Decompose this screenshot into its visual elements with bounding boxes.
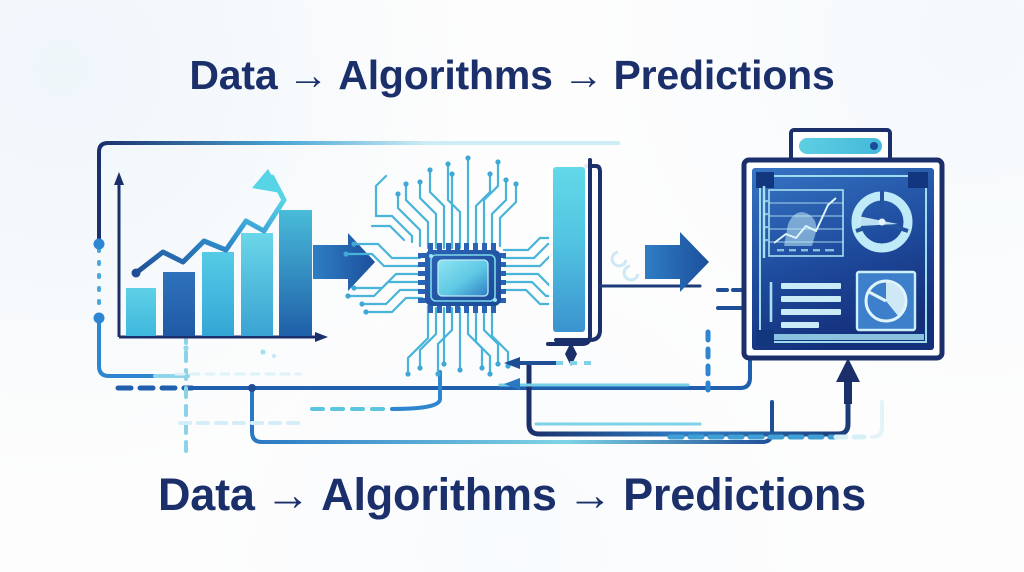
bar-chart-bar-1 [126,288,156,336]
bar-chart-icon [114,169,328,342]
dashboard-report-icon [744,130,942,404]
title-bottom-word-algorithms: Algorithms [321,469,557,520]
bar-chart-x-axis-arrowhead [315,332,328,342]
node-dot-bus-junction [248,384,256,392]
chip-corner-dot-tl [429,254,433,258]
dashboard-header-indicator-dot [870,142,878,150]
bar-chart-bar-2 [163,272,195,336]
text-lines-widget-line-4 [781,322,819,328]
bar-chart-bar-4 [241,233,273,336]
donut-chart-widget-hub [879,219,886,226]
text-lines-widget-line-3 [781,309,841,315]
page-title-top: Data → Algorithms → Predictions [0,50,1024,100]
title-top-word-data: Data [189,52,277,98]
title-bottom-word-predictions: Predictions [623,469,866,520]
diagram-canvas: Data → Algorithms → Predictions Data → A… [0,0,1024,572]
chip-corner-dot-br [493,298,497,302]
dashboard-header-pill [799,138,882,154]
title-top-word-algorithms: Algorithms [338,52,552,98]
arrow-data-to-algorithms [313,233,375,291]
node-dot-chart-base [183,345,188,350]
bar-chart-trend-start-dot [132,269,141,278]
connector-mid-dashed-solid-tail [392,372,440,409]
node-dot-chart-base-3 [272,354,276,358]
dashboard-footer-bar [774,334,924,340]
connector-bottom-curve-fade [872,402,882,437]
dashboard-corner-block-tr [908,172,928,188]
chip-core [438,260,488,296]
processing-gradient-bar [548,160,590,366]
text-lines-widget-line-1 [781,283,841,289]
processing-bar-fill [553,167,585,332]
bar-chart-bar-3 [202,252,234,336]
dashboard-corner-block-tl [756,172,774,188]
node-dot-lower-left [94,313,105,324]
bar-chart-y-axis-arrowhead [114,172,124,185]
title-bottom-arrow-1: → [255,469,321,520]
page-title-bottom: Data → Algorithms → Predictions [0,468,1024,522]
title-top-word-predictions: Predictions [614,52,835,98]
node-dot-upper-left [94,239,105,250]
arrow-feedback-up-to-predictions [836,358,860,404]
arrow-spark-artifacts [612,252,638,280]
title-top-arrow-2: → [553,52,614,98]
text-lines-widget-line-2 [781,296,841,302]
arrow-algorithms-to-predictions [612,232,709,292]
title-top-arrow-1: → [277,52,338,98]
bar-chart-bar-5 [279,210,312,336]
dashboard-corner-block-bl [756,330,774,346]
title-bottom-word-data: Data [158,469,255,520]
title-bottom-arrow-2: → [557,469,623,520]
pie-chart-widget [857,272,915,330]
node-dot-chart-base-2 [260,349,265,354]
